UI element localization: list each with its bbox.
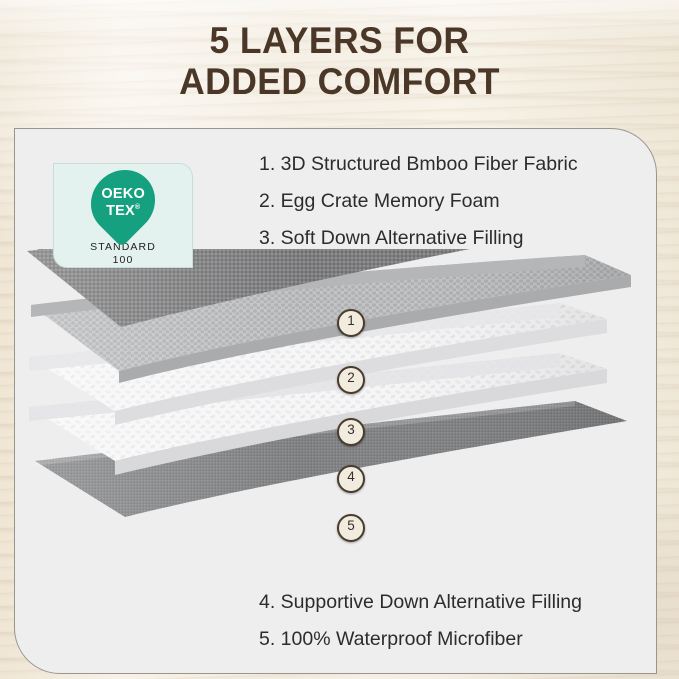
list-item: 2. Egg Crate Memory Foam	[259, 183, 578, 220]
oeko-tex-word-oeko: OEKO	[101, 187, 145, 202]
list-item: 3. Soft Down Alternative Filling	[259, 220, 578, 257]
title-line-1: 5 LAYERS FOR	[14, 20, 666, 61]
layer-badge-5: 5	[337, 514, 365, 542]
five-layer-mattress-diagram	[15, 249, 656, 579]
layer-list-bottom: 4. Supportive Down Alternative Filling 5…	[259, 584, 582, 658]
title-line-2: ADDED COMFORT	[14, 61, 666, 102]
page-title: 5 LAYERS FOR ADDED COMFORT	[0, 20, 679, 102]
layer-list-top: 1. 3D Structured Bmboo Fiber Fabric 2. E…	[259, 146, 578, 257]
infographic-card: OEKO TEX® STANDARD 100 1. 3D Structured …	[14, 128, 657, 674]
layer-badge-2: 2	[337, 366, 365, 394]
layer-badge-4: 4	[337, 465, 365, 493]
oeko-tex-standard-number: 100	[113, 254, 134, 266]
oeko-tex-word-tex: TEX	[106, 202, 135, 218]
layer-badge-1: 1	[337, 309, 365, 337]
list-item: 4. Supportive Down Alternative Filling	[259, 584, 582, 621]
oeko-tex-certification-badge: OEKO TEX® STANDARD 100	[53, 163, 193, 268]
oeko-tex-droplet-icon: OEKO TEX®	[78, 157, 169, 248]
registered-mark: ®	[135, 203, 140, 210]
list-item: 1. 3D Structured Bmboo Fiber Fabric	[259, 146, 578, 183]
list-item: 5. 100% Waterproof Microfiber	[259, 621, 582, 658]
layer-badge-3: 3	[337, 418, 365, 446]
